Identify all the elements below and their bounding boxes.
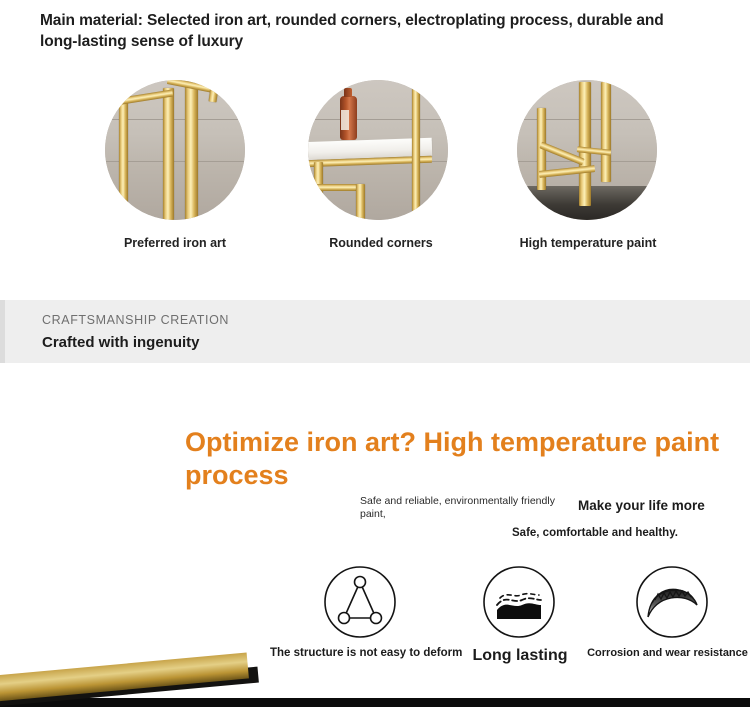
triangle-nodes-icon bbox=[323, 565, 397, 639]
product-detail-page: Main material: Selected iron art, rounde… bbox=[0, 0, 750, 707]
material-item-rounded-corners: Rounded corners bbox=[296, 80, 466, 250]
feature-long-lasting: Long lasting bbox=[455, 565, 585, 665]
bottle-label bbox=[341, 110, 349, 130]
layered-wave-surface-icon bbox=[482, 565, 556, 639]
craftsmanship-kicker: CRAFTSMANSHIP CREATION bbox=[42, 313, 229, 327]
material-item-caption: High temperature paint bbox=[503, 236, 673, 250]
material-item-high-temperature-paint: High temperature paint bbox=[503, 80, 673, 250]
bottom-black-strip bbox=[0, 698, 750, 707]
gold-bar-left bbox=[119, 100, 128, 220]
arched-shield-zigzag-icon bbox=[635, 565, 709, 639]
process-sub-bottom: Safe, comfortable and healthy. bbox=[512, 527, 678, 539]
gold-bar-far-right bbox=[412, 80, 420, 220]
iron-frame-corner-photo bbox=[105, 80, 245, 220]
feature-caption: Corrosion and wear resistance bbox=[585, 647, 750, 659]
process-headline: Optimize iron art? High temperature pain… bbox=[185, 426, 730, 492]
marble-shelf-rounded-corner-photo bbox=[308, 80, 448, 220]
process-sub-right: Make your life more bbox=[578, 498, 750, 513]
gold-leg-back bbox=[601, 82, 611, 182]
band-left-accent-bar bbox=[0, 300, 5, 363]
painted-gold-legs-photo bbox=[517, 80, 657, 220]
process-sub-left: Safe and reliable, environmentally frien… bbox=[360, 495, 570, 521]
gold-bar-center bbox=[185, 84, 198, 220]
gold-leg-front bbox=[579, 82, 591, 206]
feature-caption: Long lasting bbox=[455, 647, 585, 665]
craftsmanship-title: Crafted with ingenuity bbox=[42, 334, 200, 351]
feature-corrosion-resistance: Corrosion and wear resistance bbox=[585, 565, 750, 659]
feature-structure: The structure is not easy to deform bbox=[270, 565, 450, 659]
gold-bar-mid-left bbox=[163, 88, 174, 220]
material-item-preferred-iron-art: Preferred iron art bbox=[90, 80, 260, 250]
gold-leg-left bbox=[314, 162, 323, 220]
brown-bottle bbox=[340, 96, 357, 140]
main-material-heading: Main material: Selected iron art, rounde… bbox=[40, 10, 700, 53]
material-item-caption: Rounded corners bbox=[296, 236, 466, 250]
gold-leg-right bbox=[356, 184, 365, 220]
feature-caption: The structure is not easy to deform bbox=[270, 647, 450, 659]
material-item-caption: Preferred iron art bbox=[90, 236, 260, 250]
material-photo-row: Preferred iron art Rounded corners bbox=[0, 80, 750, 260]
craftsmanship-band: CRAFTSMANSHIP CREATION Crafted with inge… bbox=[0, 300, 750, 363]
